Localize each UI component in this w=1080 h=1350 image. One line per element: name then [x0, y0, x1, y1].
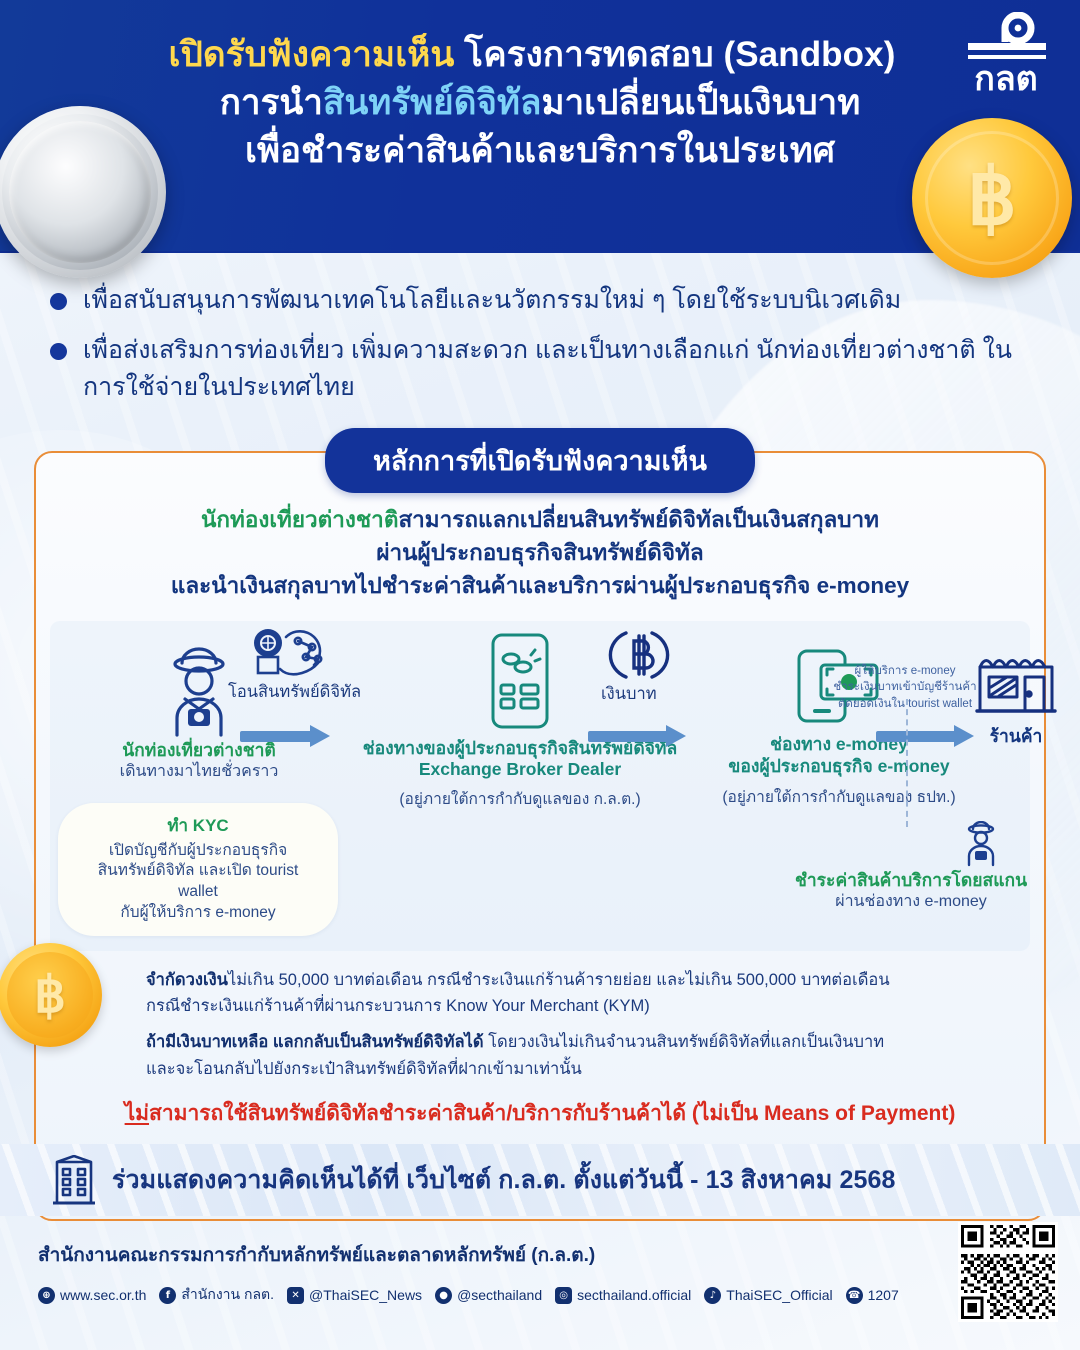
organization-name: สำนักงานคณะกรรมการกำกับหลักทรัพย์และตลาด…: [38, 1240, 1080, 1270]
silver-coin-icon: [0, 106, 166, 278]
kyc-line-1: เปิดบัญชีกับผู้ประกอบธุรกิจ: [76, 841, 320, 862]
line-icon: ●: [435, 1287, 452, 1304]
x-twitter-icon: ✕: [287, 1287, 304, 1304]
title-line-2-a: การนำ: [220, 83, 323, 122]
baht-circle-icon: [608, 627, 670, 683]
limits-p2-bold: ถ้ามีเงินบาทเหลือ แลกกลับเป็นสินทรัพย์ดิ…: [146, 1033, 484, 1051]
social-label: secthailand.official: [577, 1287, 691, 1303]
title-line-2-highlight: สินทรัพย์ดิจิทัล: [323, 83, 542, 122]
footer-contacts: สำนักงานคณะกรรมการกำกับหลักทรัพย์และตลาด…: [0, 1216, 1080, 1350]
social-link[interactable]: ◎secthailand.official: [555, 1287, 691, 1304]
node-title-en: Exchange Broker Dealer: [320, 759, 720, 780]
dashed-connector: [906, 699, 908, 827]
means-of-payment-warning: ไม่สามารถใช้สินทรัพย์ดิจิทัลชำระค่าสินค้…: [36, 1097, 1044, 1130]
limits-p1-rest: ไม่เกิน 50,000 บาทต่อเดือน กรณีชำระเงินแ…: [228, 971, 890, 989]
limits-p2-rest: โดยวงเงินไม่เกินจำนวนสินทรัพย์ดิจิทัลที่…: [484, 1033, 885, 1051]
tiktok-icon: ♪: [704, 1287, 721, 1304]
lead-line-1: สามารถแลกเปลี่ยนสินทรัพย์ดิจิทัลเป็นเงิน…: [398, 507, 879, 532]
baht-symbol: ฿: [967, 159, 1017, 237]
flow-node-merchant: ร้านค้า: [956, 649, 1076, 748]
card-pill-title: หลักการที่เปิดรับฟังความเห็น: [325, 428, 755, 493]
objectives-list: เพื่อสนับสนุนการพัฒนาเทคโนโลยีและนวัตกรร…: [0, 252, 1080, 427]
label-baht: เงินบาท: [601, 681, 657, 707]
baht-symbol: ฿: [34, 970, 66, 1020]
kyc-line-2: สินทรัพย์ดิจิทัล และเปิด tourist wallet: [76, 861, 320, 903]
node-regulator: (อยู่ภายใต้การกำกับดูแลของ ธปท.): [670, 784, 1008, 809]
warning-underlined: ไม่: [125, 1102, 149, 1125]
node-title: ร้านค้า: [956, 725, 1076, 748]
bullet-dot-icon: [50, 343, 67, 360]
node-title-line-2: ของผู้ประกอบธุรกิจ e-money: [670, 755, 1008, 778]
social-link[interactable]: ♪ThaiSEC_Official: [704, 1287, 832, 1304]
limits-p1-line2: กรณีชำระเงินแก่ร้านค้าที่ผ่านกระบวนการ K…: [146, 997, 650, 1015]
facebook-icon: f: [159, 1287, 176, 1304]
globe-icon: ⊕: [38, 1287, 55, 1304]
flow-arrow-1: [240, 725, 330, 747]
flow-diagram: นักท่องเที่ยวต่างชาติ เดินทางมาไทยชั่วคร…: [50, 621, 1030, 951]
social-link[interactable]: ✕@ThaiSEC_News: [287, 1287, 422, 1304]
list-item: เพื่อส่งเสริมการท่องเที่ยว เพิ่มความสะดว…: [50, 332, 1020, 405]
consultation-footer-band: ร่วมแสดงความคิดเห็นได้ที่ เว็บไซต์ ก.ล.ต…: [0, 1144, 1080, 1216]
title-line-1: เปิดรับฟังความเห็น โครงการทดสอบ (Sandbox…: [26, 32, 1054, 78]
lead-line-3: และนำเงินสกุลบาทไปชำระค่าสินค้าและบริการ…: [171, 573, 909, 598]
limits-section: ฿ จำกัดวงเงินไม่เกิน 50,000 บาทต่อเดือน …: [36, 951, 1044, 1083]
principle-card: หลักการที่เปิดรับฟังความเห็น นักท่องเที่…: [34, 451, 1046, 1221]
warning-rest: สามารถใช้สินทรัพย์ดิจิทัลชำระค่าสินค้า/บ…: [149, 1102, 955, 1125]
title-line-3: เพื่อชำระค่าสินค้าและบริการในประเทศ: [26, 128, 1054, 174]
social-label: @ThaiSEC_News: [309, 1287, 422, 1303]
social-link[interactable]: fสำนักงาน กลต.: [159, 1284, 274, 1306]
footer-band-text: ร่วมแสดงความคิดเห็นได้ที่ เว็บไซต์ ก.ล.ต…: [112, 1160, 896, 1200]
social-label: ThaiSEC_Official: [726, 1287, 832, 1303]
node-subtitle: ผ่านช่องทาง e-money: [766, 891, 1056, 913]
bullet-dot-icon: [50, 293, 67, 310]
node-title: ชำระค่าสินค้าบริการโดยสแกน: [766, 869, 1056, 892]
shop-icon: [956, 649, 1076, 721]
lead-line-2: ผ่านผู้ประกอบธุรกิจสินทรัพย์ดิจิทัล: [376, 540, 703, 565]
title-line-2-b: มาเปลี่ยนเป็นเงินบาท: [541, 83, 860, 122]
card-lead-text: นักท่องเที่ยวต่างชาติสามารถแลกเปลี่ยนสิน…: [36, 497, 1044, 603]
gold-baht-coin-icon: ฿: [912, 118, 1072, 278]
building-icon: [52, 1155, 96, 1205]
title-line-1-rest: โครงการทดสอบ (Sandbox): [454, 35, 895, 74]
title-line-1-highlight: เปิดรับฟังความเห็น: [169, 35, 455, 74]
gold-baht-coin-small-icon: ฿: [0, 943, 102, 1047]
limits-p2-line2: และจะโอนกลับไปยังกระเป๋าสินทรัพย์ดิจิทัล…: [146, 1060, 582, 1078]
list-item: เพื่อสนับสนุนการพัฒนาเทคโนโลยีและนวัตกรร…: [50, 282, 1020, 318]
kyc-callout: ทำ KYC เปิดบัญชีกับผู้ประกอบธุรกิจ สินทร…: [58, 803, 338, 936]
sec-logo: กลต: [958, 12, 1054, 96]
kyc-line-3: กับผู้ให้บริการ e-money: [76, 903, 320, 924]
lead-highlight: นักท่องเที่ยวต่างชาติ: [201, 507, 398, 532]
title-block: เปิดรับฟังความเห็น โครงการทดสอบ (Sandbox…: [26, 26, 1054, 175]
limits-p1-bold: จำกัดวงเงิน: [146, 971, 228, 989]
social-link[interactable]: ●@secthailand: [435, 1287, 542, 1304]
social-link[interactable]: ☎1207: [846, 1287, 899, 1304]
social-link[interactable]: ⊕www.sec.or.th: [38, 1287, 146, 1304]
social-label: www.sec.or.th: [60, 1287, 146, 1303]
node-subtitle: เดินทางมาไทยชั่วคราว: [94, 761, 304, 783]
kyc-heading: ทำ KYC: [76, 812, 320, 839]
instagram-icon: ◎: [555, 1287, 572, 1304]
limits-paragraph-1: จำกัดวงเงินไม่เกิน 50,000 บาทต่อเดือน กร…: [146, 967, 998, 1020]
phone-icon: ☎: [846, 1287, 863, 1304]
social-links-row: ⊕www.sec.or.thfสำนักงาน กลต.✕@ThaiSEC_Ne…: [38, 1284, 1080, 1306]
limits-paragraph-2: ถ้ามีเงินบาทเหลือ แลกกลับเป็นสินทรัพย์ดิ…: [146, 1029, 998, 1082]
social-label: 1207: [868, 1287, 899, 1303]
title-line-2: การนำสินทรัพย์ดิจิทัลมาเปลี่ยนเป็นเงินบา…: [26, 80, 1054, 126]
tourist-small-icon: [906, 821, 1056, 867]
bullet-text: เพื่อส่งเสริมการท่องเที่ยว เพิ่มความสะดว…: [83, 332, 1020, 405]
flow-node-scan-payment: ชำระค่าสินค้าบริการโดยสแกน ผ่านช่องทาง e…: [766, 821, 1056, 913]
social-label: @secthailand: [457, 1287, 542, 1303]
social-label: สำนักงาน กลต.: [181, 1284, 274, 1306]
infographic-poster: กลต เปิดรับฟังความเห็น โครงการทดสอบ (San…: [0, 0, 1080, 1350]
bullet-text: เพื่อสนับสนุนการพัฒนาเทคโนโลยีและนวัตกรร…: [83, 282, 901, 318]
svg-text:กลต: กลต: [974, 59, 1038, 96]
node-regulator: (อยู่ภายใต้การกำกับดูแลของ ก.ล.ต.): [320, 786, 720, 811]
